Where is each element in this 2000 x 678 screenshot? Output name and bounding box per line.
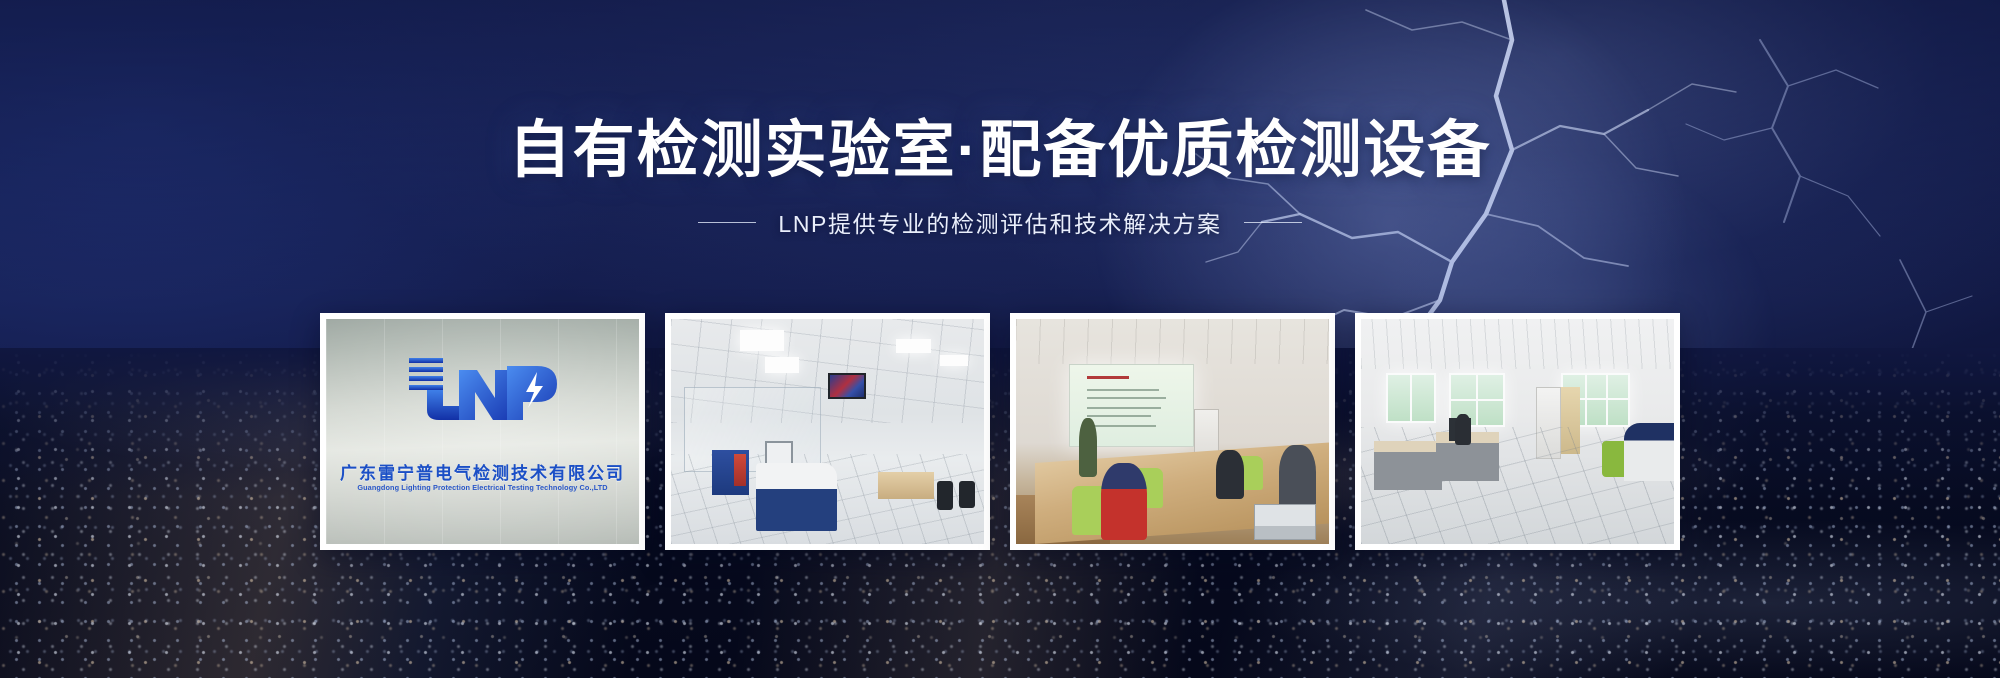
slide-title-bar bbox=[1087, 376, 1129, 379]
attendee-front bbox=[1101, 463, 1148, 540]
sign-english-name: Guangdong Lighting Protection Electrical… bbox=[357, 483, 607, 492]
wall-mounted-display bbox=[828, 373, 866, 399]
photo-company-sign: 广东雷宁普电气检测技术有限公司 Guangdong Lighting Prote… bbox=[326, 319, 639, 544]
meeting-ceiling bbox=[1016, 319, 1329, 364]
banner-subtitle: LNP提供专业的检测评估和技术解决方案 bbox=[778, 205, 1221, 239]
window-mullion-1 bbox=[1410, 375, 1412, 421]
office-desk-1 bbox=[1374, 441, 1443, 491]
gallery-card-meeting-room[interactable] bbox=[1010, 313, 1335, 550]
lnp-logo bbox=[407, 348, 559, 426]
right-rule-divider bbox=[1244, 222, 1302, 223]
ceiling-light-3 bbox=[896, 339, 930, 353]
window-mullion-3a bbox=[1585, 375, 1587, 425]
gallery-card-company-sign[interactable]: 广东雷宁普电气检测技术有限公司 Guangdong Lighting Prote… bbox=[320, 313, 645, 550]
photo-office-area bbox=[1361, 319, 1674, 544]
banner-headline: 自有检测实验室·配备优质检测设备 LNP提供专业的检测评估和技术解决方案 bbox=[0, 118, 2000, 239]
attendee-middle bbox=[1216, 450, 1244, 500]
page-title: 自有检测实验室·配备优质检测设备 bbox=[0, 118, 2000, 183]
photo-meeting-room bbox=[1016, 319, 1329, 544]
workbench bbox=[878, 472, 934, 499]
ceiling-light-4 bbox=[940, 355, 968, 366]
attendee-right bbox=[1279, 445, 1317, 513]
lab-chair-1 bbox=[937, 481, 953, 510]
slide-line-4 bbox=[1087, 415, 1151, 417]
office-window-1 bbox=[1386, 373, 1436, 423]
window-mullion-3b bbox=[1606, 375, 1608, 425]
sign-chinese-name: 广东雷宁普电气检测技术有限公司 bbox=[340, 459, 625, 484]
left-rule-divider bbox=[698, 222, 756, 223]
window-transom-2 bbox=[1451, 399, 1503, 401]
slide-line-2 bbox=[1087, 397, 1166, 399]
ceiling-light-2 bbox=[765, 357, 799, 373]
laptop-on-table bbox=[1254, 504, 1317, 540]
slide-line-5 bbox=[1087, 425, 1156, 427]
lnp-logo-icon bbox=[407, 348, 559, 426]
subtitle-row: LNP提供专业的检测评估和技术解决方案 bbox=[0, 205, 2000, 239]
gallery-card-testing-laboratory[interactable] bbox=[665, 313, 990, 550]
control-console bbox=[756, 463, 837, 531]
slide-line-1 bbox=[1087, 389, 1158, 391]
reception-counter bbox=[1624, 423, 1674, 482]
photo-testing-laboratory bbox=[671, 319, 984, 544]
slide-line-3 bbox=[1087, 407, 1161, 409]
seated-employee bbox=[1455, 414, 1471, 446]
lab-chair-2 bbox=[959, 481, 975, 508]
presenter-standing bbox=[1079, 418, 1098, 477]
hero-banner: 自有检测实验室·配备优质检测设备 LNP提供专业的检测评估和技术解决方案 bbox=[0, 0, 2000, 678]
gallery-card-office-area[interactable] bbox=[1355, 313, 1680, 550]
photo-gallery: 广东雷宁普电气检测技术有限公司 Guangdong Lighting Prote… bbox=[0, 313, 2000, 550]
ceiling-light-1 bbox=[740, 330, 784, 350]
hv-insulator-stack bbox=[734, 454, 747, 486]
office-ceiling bbox=[1361, 319, 1674, 369]
